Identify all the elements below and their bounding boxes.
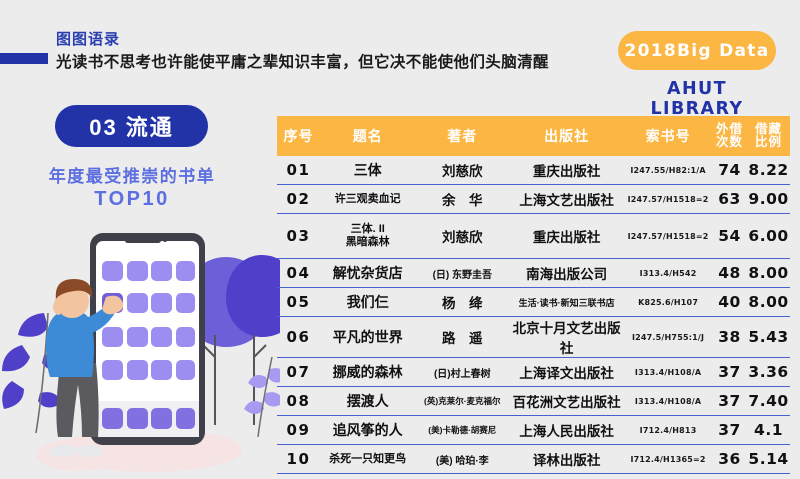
header-no: 序号: [277, 129, 320, 144]
cell-publisher: 上海文艺出版社: [509, 189, 624, 209]
cell-no: 04: [277, 264, 320, 282]
cell-ratio: 7.40: [747, 392, 790, 410]
cell-author: 路 遥: [415, 327, 509, 347]
section-badge-label: 03 流通: [89, 110, 174, 142]
cell-author: 杨 绛: [415, 292, 509, 312]
quote-text: 光读书不思考也许能使平庸之辈知识丰富，但它决不能使他们头脑清醒: [56, 50, 549, 72]
cell-no: 02: [277, 190, 320, 208]
cell-call-number: I313.4/H108/A: [624, 368, 712, 377]
table-header-row: 序号 题名 著者 出版社 索书号 外借 次数 借藏 比例: [277, 116, 790, 156]
cell-call-number: I313.4/H542: [624, 269, 712, 278]
brand-pill: 2018Big Data: [618, 31, 776, 70]
cell-title: 摆渡人: [320, 393, 416, 409]
brand-subtitle: AHUT LIBRARY: [618, 79, 776, 119]
cell-no: 08: [277, 392, 320, 410]
header-author: 著者: [415, 129, 509, 144]
header-ratio: 借藏 比例: [747, 123, 790, 149]
cell-title: 我们仨: [320, 294, 416, 310]
cell-loan-count: 54: [712, 227, 747, 245]
cell-call-number: I247.5/H755:1/J: [624, 333, 712, 342]
plant-right-icon: [244, 357, 280, 437]
header-title: 题名: [320, 129, 416, 144]
quote-label: 图图语录: [56, 28, 120, 49]
table-row[interactable]: 04解忧杂货店(日) 东野圭吾南海出版公司I313.4/H542488.00: [277, 259, 790, 288]
table-row[interactable]: 02许三观卖血记余 华上海文艺出版社I247.57/H1518=2639.00: [277, 185, 790, 214]
cell-publisher: 百花洲文艺出版社: [509, 391, 624, 411]
table-row[interactable]: 07挪威的森林(日)村上春树上海译文出版社I313.4/H108/A373.36: [277, 358, 790, 387]
cell-author: (英)克莱尔·麦克福尔: [415, 395, 509, 407]
cell-title: 三体: [320, 162, 416, 178]
section-badge: 03 流通: [55, 105, 208, 147]
cell-ratio: 5.43: [747, 328, 790, 346]
cell-loan-count: 48: [712, 264, 747, 282]
cell-ratio: 6.00: [747, 227, 790, 245]
cell-loan-count: 36: [712, 450, 747, 468]
cell-title: 挪威的森林: [320, 364, 416, 380]
cell-loan-count: 74: [712, 161, 747, 179]
cell-call-number: I247.55/H82:1/A: [624, 166, 712, 175]
cell-loan-count: 38: [712, 328, 747, 346]
header-loan-count-line2: 次数: [712, 136, 747, 149]
cell-loan-count: 37: [712, 392, 747, 410]
cell-no: 01: [277, 161, 320, 179]
cell-author: 刘慈欣: [415, 160, 509, 180]
table-row[interactable]: 03三体. II黑暗森林刘慈欣重庆出版社I247.57/H1518=2546.0…: [277, 214, 790, 259]
cell-publisher: 重庆出版社: [509, 160, 624, 180]
smartphone-illustration: [0, 205, 280, 479]
cell-call-number: I247.57/H1518=2: [624, 232, 712, 241]
cell-loan-count: 37: [712, 421, 747, 439]
cell-author: (日) 东野圭吾: [415, 266, 509, 281]
cell-no: 06: [277, 328, 320, 346]
header-ratio-line2: 比例: [747, 136, 790, 149]
cell-call-number: I712.4/H1365=2: [624, 455, 712, 464]
cell-publisher: 上海人民出版社: [509, 420, 624, 440]
cell-title: 解忧杂货店: [320, 265, 416, 281]
table-row[interactable]: 01三体刘慈欣重庆出版社I247.55/H82:1/A748.22: [277, 156, 790, 185]
table-row[interactable]: 09追风筝的人(美)卡勒德·胡赛尼上海人民出版社I712.4/H813374.1: [277, 416, 790, 445]
cell-call-number: I247.57/H1518=2: [624, 195, 712, 204]
cell-ratio: 8.00: [747, 264, 790, 282]
cell-publisher: 上海译文出版社: [509, 362, 624, 382]
cell-title-line1: 三体. II: [320, 223, 416, 236]
cell-no: 05: [277, 293, 320, 311]
cell-publisher: 译林出版社: [509, 449, 624, 469]
cell-call-number: I712.4/H813: [624, 426, 712, 435]
poster-canvas: 图图语录 光读书不思考也许能使平庸之辈知识丰富，但它决不能使他们头脑清醒 201…: [0, 0, 800, 479]
cell-title: 许三观卖血记: [320, 193, 416, 206]
header-call-number: 索书号: [624, 129, 712, 144]
cell-ratio: 4.1: [747, 421, 790, 439]
cell-ratio: 9.00: [747, 190, 790, 208]
cell-author: 刘慈欣: [415, 226, 509, 246]
cell-ratio: 8.00: [747, 293, 790, 311]
cell-call-number: I313.4/H108/A: [624, 397, 712, 406]
cell-loan-count: 37: [712, 363, 747, 381]
cell-author: (日)村上春树: [415, 365, 509, 380]
table-row[interactable]: 08摆渡人(英)克莱尔·麦克福尔百花洲文艺出版社I313.4/H108/A377…: [277, 387, 790, 416]
table-row[interactable]: 05我们仨杨 绛生活·读书·新知三联书店K825.6/H107408.00: [277, 288, 790, 317]
cell-publisher: 南海出版公司: [509, 263, 624, 283]
cell-title: 平凡的世界: [320, 329, 416, 345]
cell-author: (美)卡勒德·胡赛尼: [415, 424, 509, 436]
cell-no: 09: [277, 421, 320, 439]
cell-no: 10: [277, 450, 320, 468]
cell-call-number: K825.6/H107: [624, 298, 712, 307]
cell-no: 03: [277, 227, 320, 245]
cell-publisher: 北京十月文艺出版社: [509, 317, 624, 357]
table-row[interactable]: 06平凡的世界路 遥北京十月文艺出版社I247.5/H755:1/J385.43: [277, 317, 790, 358]
cell-publisher: 生活·读书·新知三联书店: [509, 296, 624, 309]
brand-pill-label: 2018Big Data: [625, 41, 770, 61]
books-table: 序号 题名 著者 出版社 索书号 外借 次数 借藏 比例 01三体刘慈欣重庆出版…: [277, 116, 790, 474]
cell-author: (美) 哈珀·李: [415, 452, 509, 467]
header-loan-count: 外借 次数: [712, 123, 747, 149]
quote-accent-bar: [0, 53, 48, 64]
cell-publisher: 重庆出版社: [509, 226, 624, 246]
cell-title: 追风筝的人: [320, 422, 416, 438]
cell-ratio: 5.14: [747, 450, 790, 468]
cell-author: 余 华: [415, 189, 509, 209]
cell-title: 杀死一只知更鸟: [320, 453, 416, 466]
cell-no: 07: [277, 363, 320, 381]
cell-loan-count: 63: [712, 190, 747, 208]
table-row[interactable]: 10杀死一只知更鸟(美) 哈珀·李译林出版社I712.4/H1365=2365.…: [277, 445, 790, 474]
section-subtitle-line1: 年度最受推崇的书单: [22, 162, 242, 187]
table-body: 01三体刘慈欣重庆出版社I247.55/H82:1/A748.2202许三观卖血…: [277, 156, 790, 474]
cell-ratio: 3.36: [747, 363, 790, 381]
cell-loan-count: 40: [712, 293, 747, 311]
cell-title: 三体. II黑暗森林: [320, 223, 416, 248]
cell-ratio: 8.22: [747, 161, 790, 179]
header-publisher: 出版社: [509, 129, 624, 144]
cell-title-line2: 黑暗森林: [320, 236, 416, 249]
phone-mockup: [90, 233, 205, 445]
